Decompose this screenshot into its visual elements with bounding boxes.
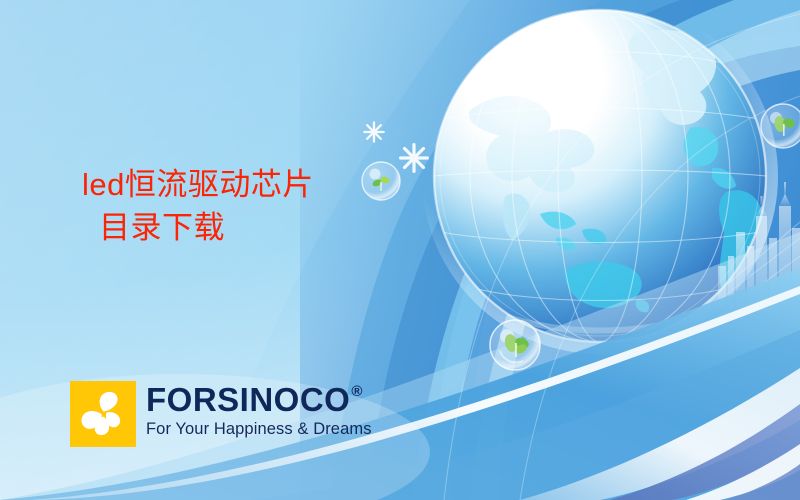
logo-wordmark-text: FORSINOCO: [146, 383, 350, 416]
logo-mark-tile: [70, 381, 136, 447]
headline-line-2: 目录下载: [82, 207, 314, 250]
headline-line-1: led恒流驱动芯片: [82, 167, 314, 202]
four-petal-pinwheel-icon: [70, 381, 136, 447]
brand-logo: FORSINOCO ® For Your Happiness & Dreams: [70, 381, 372, 447]
logo-tagline: For Your Happiness & Dreams: [146, 420, 372, 439]
logo-wordmark: FORSINOCO ®: [146, 383, 372, 416]
page-title: led恒流驱动芯片 目录下载: [82, 164, 314, 250]
promo-banner: led恒流驱动芯片 目录下载 FORSINOCO ®: [0, 0, 800, 500]
registered-trademark-icon: ®: [351, 384, 363, 399]
